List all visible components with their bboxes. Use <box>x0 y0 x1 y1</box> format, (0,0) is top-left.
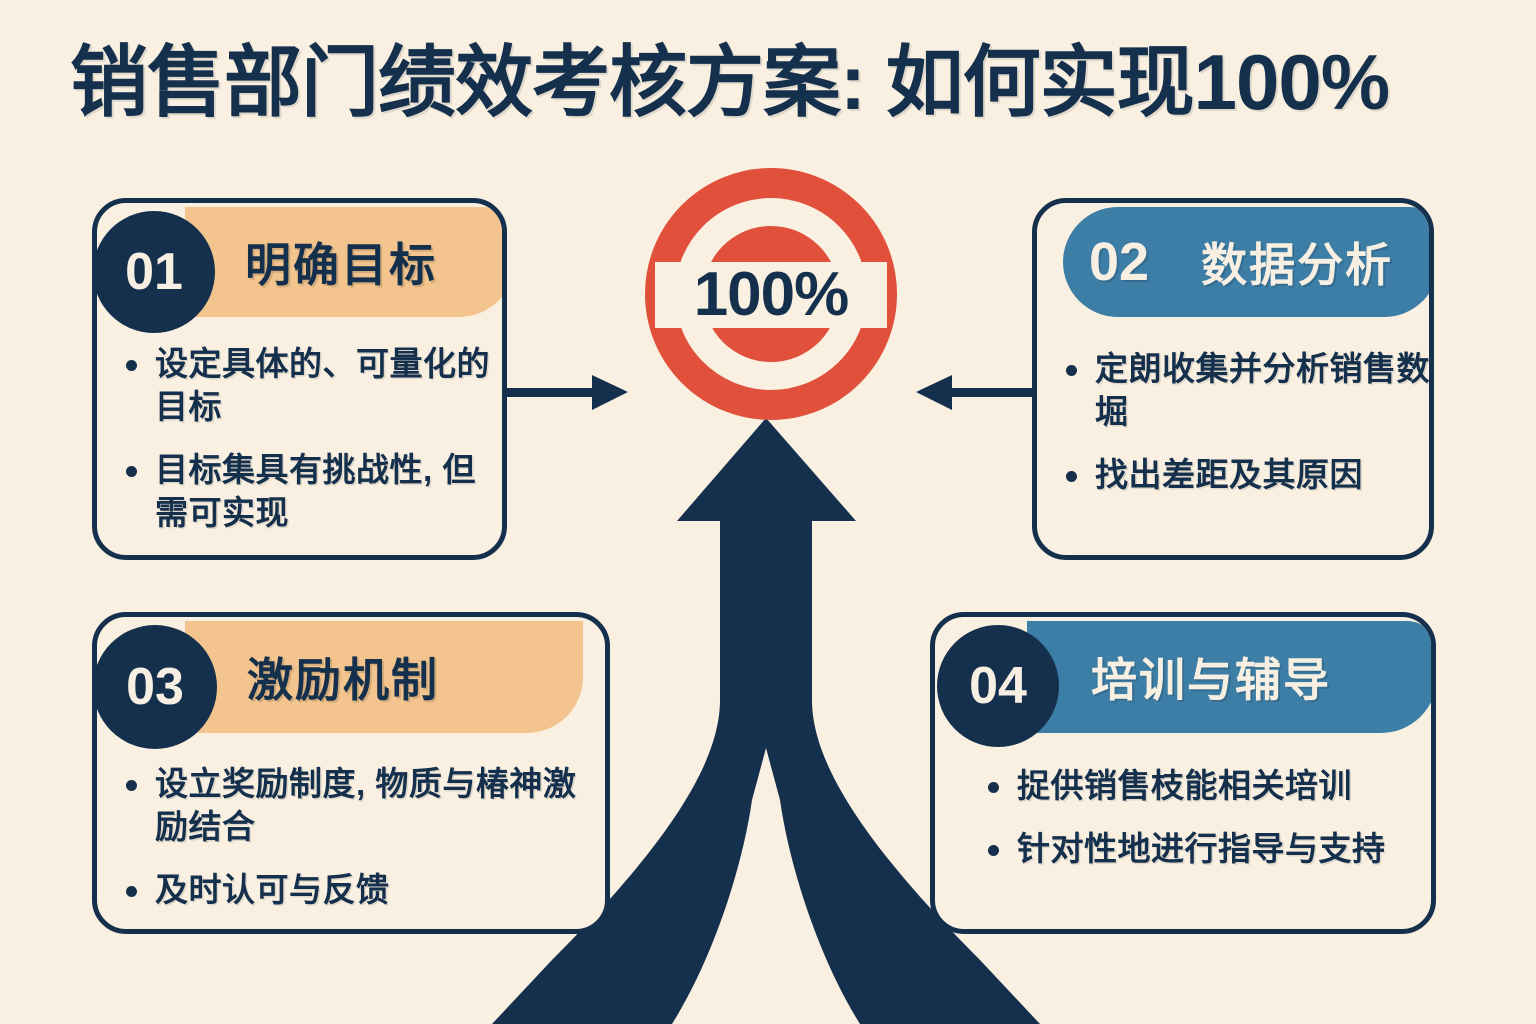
list-item: 针对性地进行指导与支持 <box>983 828 1433 871</box>
list-item: 及时认可与反馈 <box>121 869 601 912</box>
card-01[interactable]: 明确目标 01 设定具体的、可量化的目标 目标集具有挑战性, 但需可实现 <box>92 198 507 560</box>
list-item: 目标集具有挑战性, 但需可实现 <box>121 449 496 535</box>
card-02-bullet-list: 定朗收集并分析销售数堀 找出差距及其原因 <box>1061 348 1431 517</box>
card-02-header: 02 数据分析 <box>1063 207 1434 317</box>
card-02[interactable]: 02 数据分析 定朗收集并分析销售数堀 找出差距及其原因 <box>1032 198 1434 560</box>
card-04-title: 培训与辅导 <box>1091 644 1331 710</box>
infographic-canvas: 销售部门绩效考核方案: 如何实现100% 100% 明确目标 01 设定具体的、… <box>0 0 1536 1024</box>
target-badge: 100% <box>645 168 897 420</box>
list-item: 捉供销售枝能相关培训 <box>983 765 1433 808</box>
card-01-header: 明确目标 <box>185 207 507 317</box>
card-01-bullet-list: 设定具体的、可量化的目标 目标集具有挑战性, 但需可实现 <box>121 343 496 555</box>
card-04[interactable]: 培训与辅导 04 捉供销售枝能相关培训 针对性地进行指导与支持 <box>930 612 1436 934</box>
card-03-bullet-list: 设立奖励制度, 物质与椿神激励结合 及时认可与反馈 <box>121 763 601 932</box>
connector-left <box>506 375 628 410</box>
connector-right <box>916 375 1036 410</box>
card-03-header: 激励机制 <box>185 621 583 733</box>
list-item: 设定具体的、可量化的目标 <box>121 343 496 429</box>
target-percent-label: 100% <box>645 261 897 329</box>
card-04-header: 培训与辅导 <box>1027 621 1436 733</box>
card-04-bullet-list: 捉供销售枝能相关培训 针对性地进行指导与支持 <box>983 765 1433 891</box>
card-02-number-badge: 02 <box>1089 231 1149 293</box>
card-03[interactable]: 激励机制 03 设立奖励制度, 物质与椿神激励结合 及时认可与反馈 <box>92 612 610 934</box>
card-01-title: 明确目标 <box>245 229 437 295</box>
list-item: 定朗收集并分析销售数堀 <box>1061 348 1431 434</box>
card-01-number-badge: 01 <box>93 211 215 333</box>
card-03-title: 激励机制 <box>247 644 439 710</box>
list-item: 设立奖励制度, 物质与椿神激励结合 <box>121 763 601 849</box>
card-02-title: 数据分析 <box>1201 229 1393 295</box>
card-03-number-badge: 03 <box>93 625 217 749</box>
list-item: 找出差距及其原因 <box>1061 454 1431 497</box>
card-04-number-badge: 04 <box>937 625 1059 747</box>
